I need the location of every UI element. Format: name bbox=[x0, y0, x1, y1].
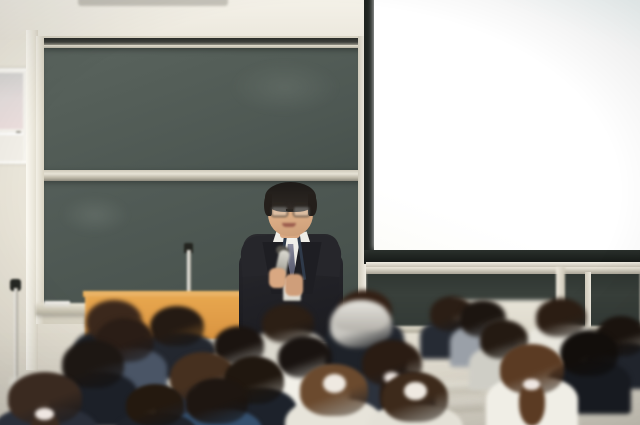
audience-member-grey-hair bbox=[334, 300, 389, 331]
audience-member-head bbox=[150, 306, 204, 346]
audience-member bbox=[8, 372, 82, 425]
audience-member bbox=[150, 306, 204, 350]
audience-member-hair-bun bbox=[404, 382, 426, 400]
audience-member-head bbox=[186, 378, 248, 424]
audience-member bbox=[186, 378, 248, 425]
audience-member bbox=[560, 330, 618, 380]
audience-member-head bbox=[126, 384, 184, 425]
audience-member-hair-tie bbox=[35, 408, 54, 420]
audience-member bbox=[300, 364, 368, 420]
audience bbox=[0, 0, 640, 425]
audience-member-hair-tie bbox=[523, 379, 540, 391]
audience-member-head bbox=[560, 330, 618, 376]
audience-member bbox=[500, 344, 564, 398]
audience-member bbox=[382, 372, 448, 425]
lecture-hall-photo: Lecture hall presentation A man in a dar… bbox=[0, 0, 640, 425]
audience-member bbox=[126, 384, 184, 425]
